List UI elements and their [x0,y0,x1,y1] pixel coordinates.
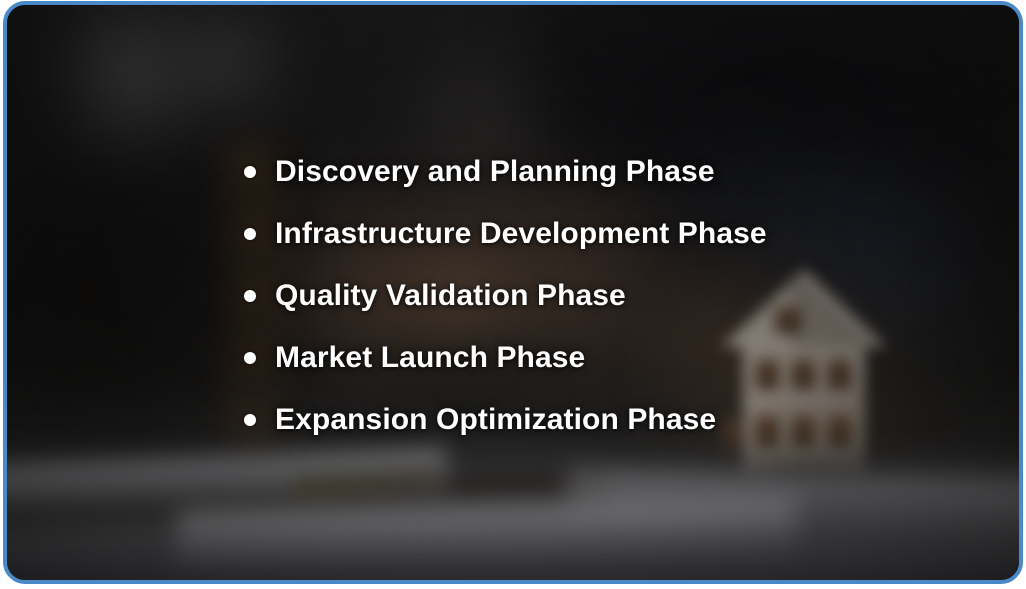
list-item-label: Quality Validation Phase [275,279,626,313]
bullet-dot-icon [244,228,256,240]
bullet-dot-icon [244,290,256,302]
list-item-label: Expansion Optimization Phase [275,403,716,437]
list-item-label: Market Launch Phase [275,341,585,375]
slide-root: Discovery and Planning Phase Infrastruct… [0,0,1026,589]
list-item-label: Discovery and Planning Phase [275,155,715,189]
list-item: Discovery and Planning Phase [239,141,999,203]
list-item: Market Launch Phase [239,327,999,389]
bullet-dot-icon [244,414,256,426]
slide-card: Discovery and Planning Phase Infrastruct… [3,1,1023,584]
list-item: Quality Validation Phase [239,265,999,327]
list-item: Expansion Optimization Phase [239,389,999,451]
bullet-dot-icon [244,166,256,178]
list-item-label: Infrastructure Development Phase [275,217,767,251]
bullet-dot-icon [244,352,256,364]
phase-bullet-list: Discovery and Planning Phase Infrastruct… [239,141,999,451]
list-item: Infrastructure Development Phase [239,203,999,265]
